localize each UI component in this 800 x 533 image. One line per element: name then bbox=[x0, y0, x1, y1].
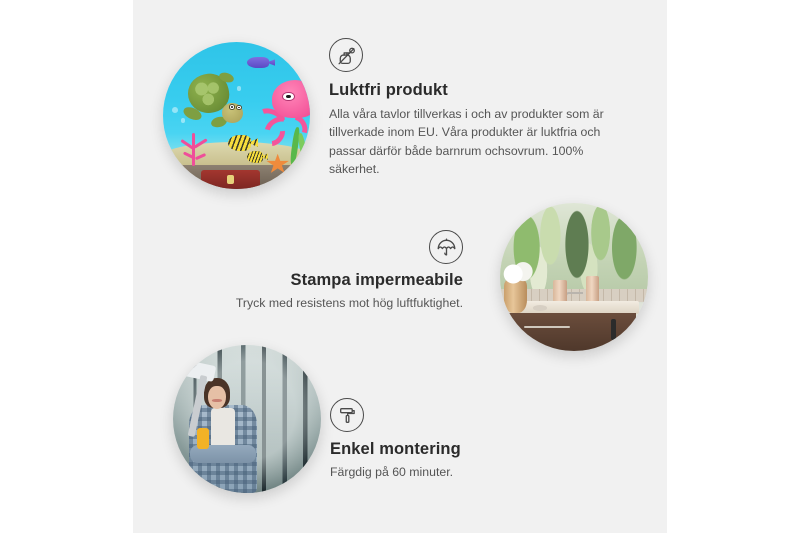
umbrella-icon bbox=[429, 230, 463, 264]
treasure-chest-icon bbox=[201, 170, 260, 189]
feature-title: Stampa impermeabile bbox=[160, 271, 463, 290]
bubble-icon bbox=[172, 107, 178, 113]
fish-icon bbox=[247, 57, 269, 69]
fish-icon bbox=[228, 135, 252, 151]
bathroom-scene bbox=[500, 203, 648, 351]
promo-graphic: Luktfri produkt Alla våra tavlor tillver… bbox=[0, 0, 800, 533]
painter-scene bbox=[173, 345, 321, 493]
coral-icon bbox=[175, 130, 219, 171]
no-fragrance-icon bbox=[329, 38, 363, 72]
turtle-head bbox=[222, 103, 243, 123]
feature-title: Enkel montering bbox=[330, 440, 610, 459]
paint-roller-icon bbox=[330, 398, 364, 432]
feature-description: Alla våra tavlor tillverkas i och av pro… bbox=[329, 105, 629, 179]
vanity-cabinet bbox=[509, 313, 636, 351]
feature-waterproof: Stampa impermeabile Tryck med resistens … bbox=[160, 230, 463, 312]
fish-icon bbox=[247, 151, 263, 163]
paint-roller-grip bbox=[197, 428, 209, 449]
feature-title: Luktfri produkt bbox=[329, 81, 629, 100]
feature-description: Färgdig på 60 minuter. bbox=[330, 463, 610, 481]
octopus-eye bbox=[282, 92, 295, 102]
turtle-icon bbox=[182, 71, 244, 127]
feature-odorless: Luktfri produkt Alla våra tavlor tillver… bbox=[329, 38, 629, 179]
turtle-eye bbox=[229, 104, 235, 110]
face bbox=[208, 386, 225, 409]
product-photo-painter bbox=[173, 345, 321, 493]
flowers-icon bbox=[500, 262, 533, 286]
turtle-eye bbox=[236, 105, 242, 111]
ocean-illustration bbox=[163, 42, 310, 189]
product-photo-ocean bbox=[163, 42, 310, 189]
octopus-head bbox=[272, 80, 310, 118]
feature-assembly: Enkel montering Färgdig på 60 minuter. bbox=[330, 398, 610, 481]
feature-description: Tryck med resistens mot hög luftfuktighe… bbox=[160, 294, 463, 312]
product-photo-bathroom bbox=[500, 203, 648, 351]
